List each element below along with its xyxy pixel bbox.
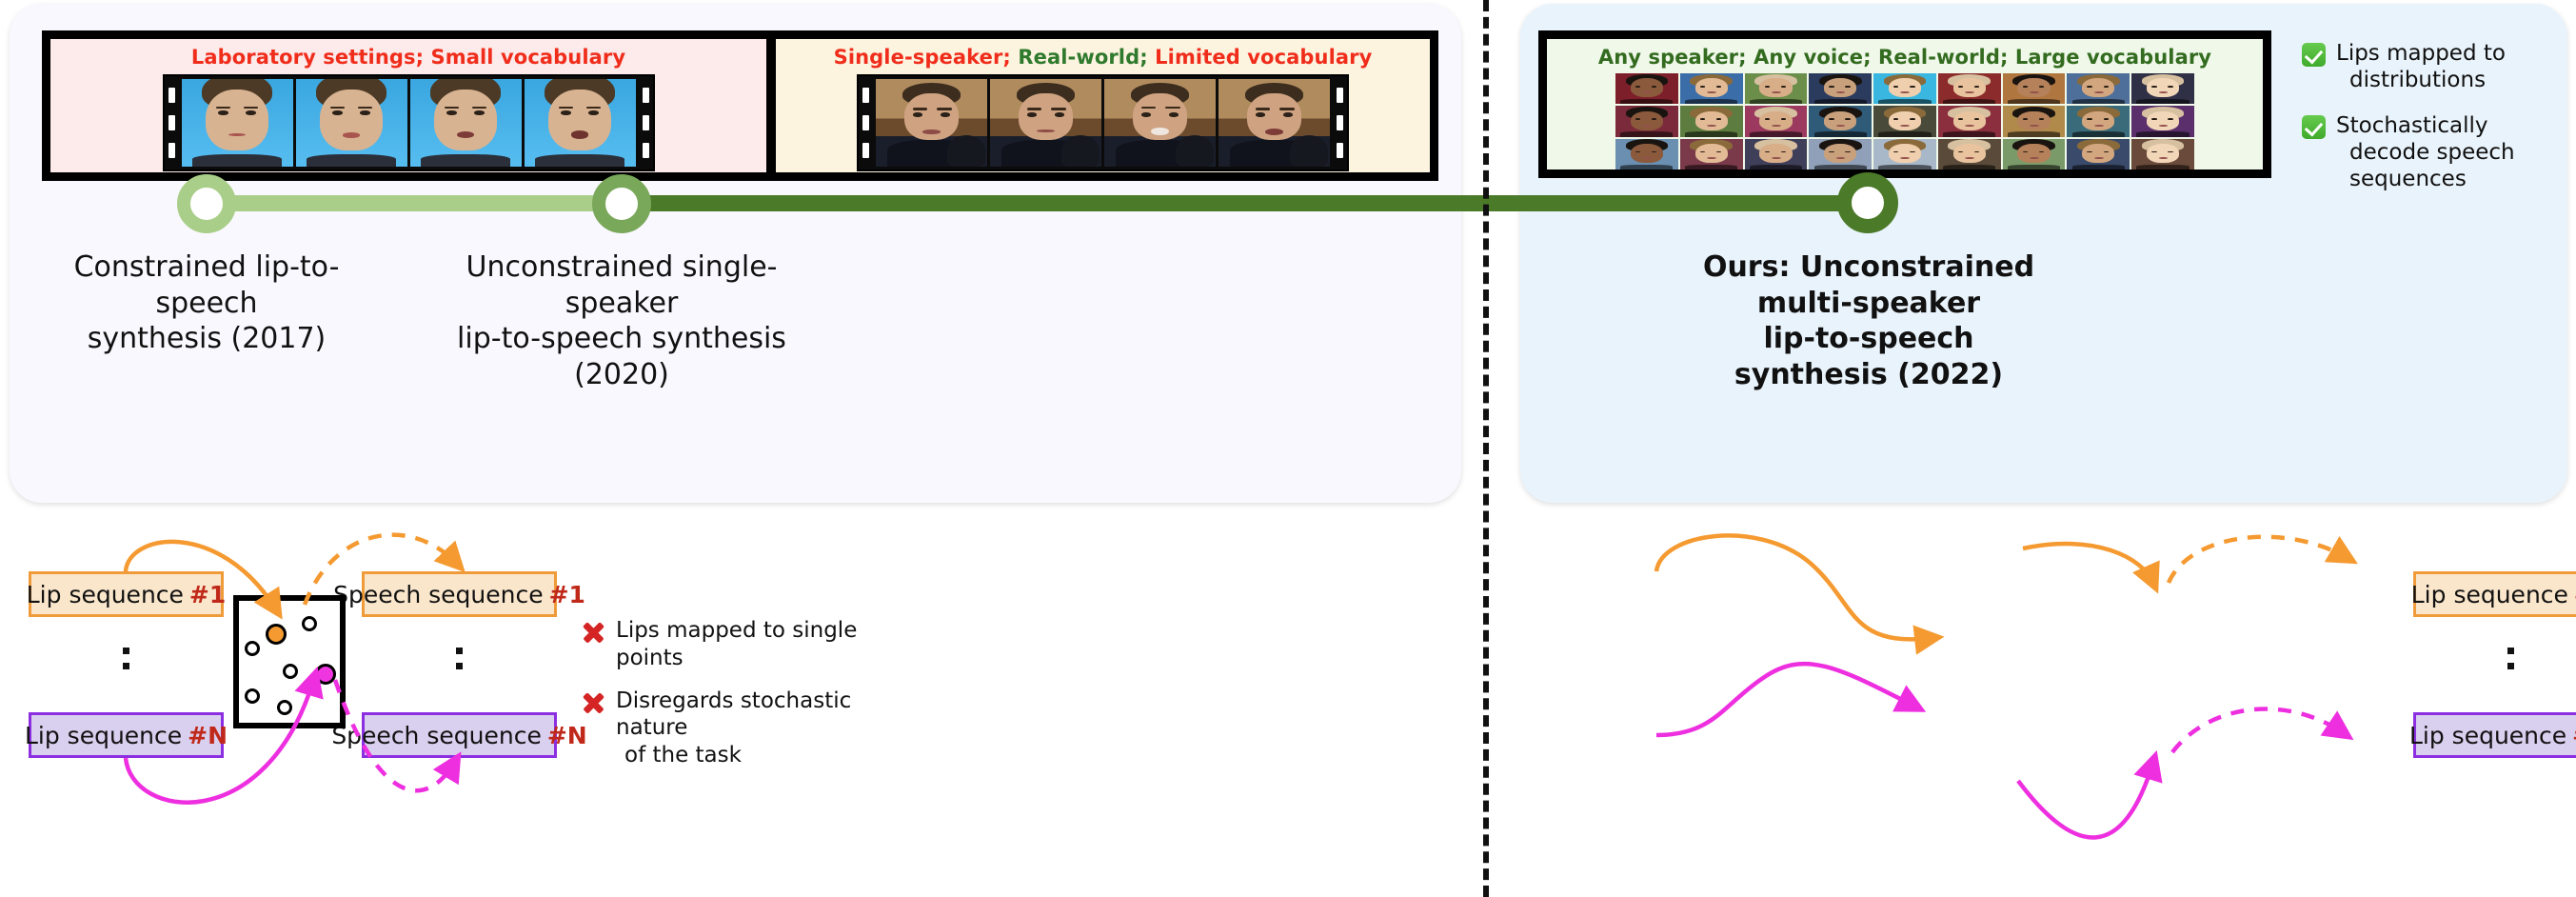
latent-point-magenta (315, 664, 336, 685)
card-1-title: Laboratory settings; Small vocabulary (191, 46, 625, 69)
video-frame (1104, 79, 1216, 167)
drawback-item: Lips mapped to single points (581, 617, 904, 672)
timeline-caption-line1: Constrained lip-to-speech (54, 249, 359, 321)
film-frames (873, 79, 1333, 167)
x-icon (581, 620, 605, 645)
timeline-caption-2017: Constrained lip-to-speech synthesis (201… (54, 249, 359, 357)
card-2-title-part-1: Single-speaker; (834, 46, 1011, 69)
card-2-title: Single-speaker; Real-world; Limited voca… (834, 46, 1373, 69)
timeline-node-2017 (177, 174, 236, 233)
card-1-title-part-1: Laboratory settings; Small vocabulary (191, 46, 625, 69)
lip-sequence-n-box-ours: Lip sequence #N (2413, 712, 2576, 758)
timeline-caption-line2: lip-to-speech synthesis (2020) (422, 321, 822, 392)
lip-sequence-n-label: Lip sequence (2409, 722, 2566, 749)
latent-point-set-box (233, 595, 346, 728)
lip-sequence-n-label: Lip sequence (25, 722, 182, 749)
sprocket-holes-right (639, 79, 653, 167)
sprocket-holes-left (859, 79, 873, 167)
lip-sequence-1-label: Lip sequence (2411, 581, 2568, 608)
latent-point (245, 641, 260, 656)
card-2-title-part-2: Real-world; (1018, 46, 1147, 69)
timeline-caption-2020: Unconstrained single-speaker lip-to-spee… (422, 249, 822, 392)
dataset-card-realworld: Single-speaker; Real-world; Limited voca… (767, 30, 1438, 181)
sprocket-holes-left (165, 79, 179, 167)
timeline-caption-line1: Unconstrained single-speaker (422, 249, 822, 321)
video-frame (525, 79, 636, 167)
latent-point (277, 700, 292, 715)
timeline-node-2020 (592, 174, 651, 233)
latent-point (245, 688, 260, 704)
drawback-line1: Lips mapped to single points (616, 618, 857, 670)
lip-sequence-1-box-ours: Lip sequence #1 (2413, 571, 2576, 617)
drawback-item: Disregards stochastic nature of the task (581, 688, 904, 769)
lip-sequence-n-index: #N (188, 722, 228, 749)
dataset-card-lab: Laboratory settings; Small vocabulary (42, 30, 775, 181)
speech-sequence-n-box: Speech sequence #N (362, 712, 557, 758)
lip-sequence-1-index: #1 (189, 581, 226, 608)
vertical-dashed-divider (1483, 0, 1489, 897)
speech-sequence-1-index: #1 (549, 581, 585, 608)
video-frame (876, 79, 987, 167)
drawbacks-list: Lips mapped to single points Disregards … (581, 617, 904, 785)
lip-sequence-n-box: Lip sequence #N (29, 712, 224, 758)
speech-sequence-1-label: Speech sequence (333, 581, 544, 608)
lip-sequence-n-index: #N (2572, 722, 2576, 749)
timeline-caption-line2: synthesis (2017) (54, 321, 359, 357)
vertical-ellipsis-icon (123, 648, 129, 669)
speech-sequence-n-label: Speech sequence (331, 722, 542, 749)
video-frame (296, 79, 407, 167)
speech-sequence-1-box: Speech sequence #1 (362, 571, 557, 617)
vertical-ellipsis-icon (2507, 648, 2514, 669)
lip-sequence-1-box: Lip sequence #1 (29, 571, 224, 617)
video-frame (182, 79, 293, 167)
film-strip-2 (857, 74, 1349, 171)
card-2-title-part-3: Limited vocabulary (1155, 46, 1372, 69)
film-frames (179, 79, 639, 167)
drawback-line2: of the task (616, 742, 904, 769)
vertical-ellipsis-icon (456, 648, 463, 669)
drawback-item-label: Lips mapped to single points (616, 617, 904, 672)
latent-point (283, 664, 298, 679)
latent-point (302, 616, 317, 631)
video-frame (410, 79, 522, 167)
lip-sequence-1-label: Lip sequence (27, 581, 184, 608)
video-frame (990, 79, 1101, 167)
timeline-segment-1 (205, 195, 631, 211)
x-icon (581, 690, 605, 715)
film-strip-1 (163, 74, 655, 171)
drawback-line1: Disregards stochastic nature (616, 688, 851, 741)
latent-point-orange (266, 624, 287, 645)
video-frame (1219, 79, 1330, 167)
sprocket-holes-right (1333, 79, 1347, 167)
drawback-item-label: Disregards stochastic nature of the task (616, 688, 904, 769)
